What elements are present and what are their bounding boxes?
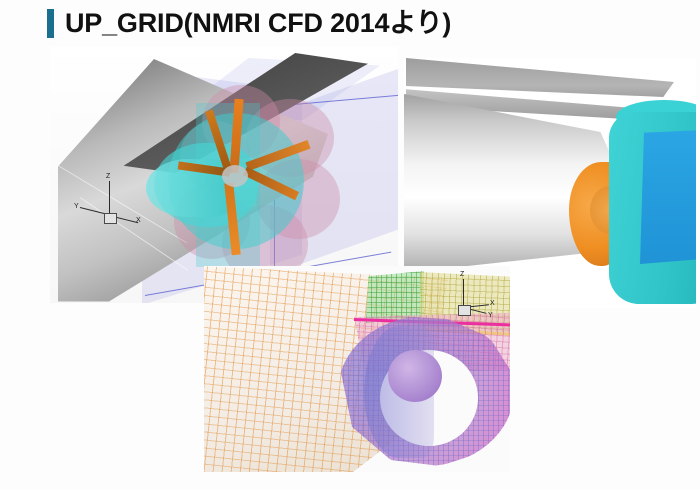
figure-hull-propeller-box: Z X Y xyxy=(50,47,398,303)
axis-z-label: Z xyxy=(460,271,464,278)
grid-plane-green xyxy=(366,271,424,323)
axis-triad-left: Z X Y xyxy=(78,173,144,227)
axis-y-label: Y xyxy=(74,203,79,210)
axis-origin-cube xyxy=(458,305,471,316)
rudder-inner-panel xyxy=(640,130,696,264)
axis-z-line xyxy=(463,279,464,307)
slide-header: UP_GRID(NMRI CFD 2014より) xyxy=(0,0,700,46)
propeller-hub-core xyxy=(222,165,248,187)
axis-x-label: X xyxy=(136,217,141,224)
axis-origin-cube xyxy=(104,213,117,224)
axis-x-label: X xyxy=(490,300,495,307)
title-accent-bar xyxy=(47,9,54,38)
axis-triad-bottom: Z X Y xyxy=(446,272,510,326)
axis-y-label: Y xyxy=(488,312,493,319)
axis-z-line xyxy=(109,181,110,215)
figure-structured-grid: Z X Y xyxy=(204,266,510,472)
axis-z-label: Z xyxy=(106,173,110,180)
page-title: UP_GRID(NMRI CFD 2014より) xyxy=(65,10,451,37)
hub-sphere-mesh xyxy=(388,350,442,402)
